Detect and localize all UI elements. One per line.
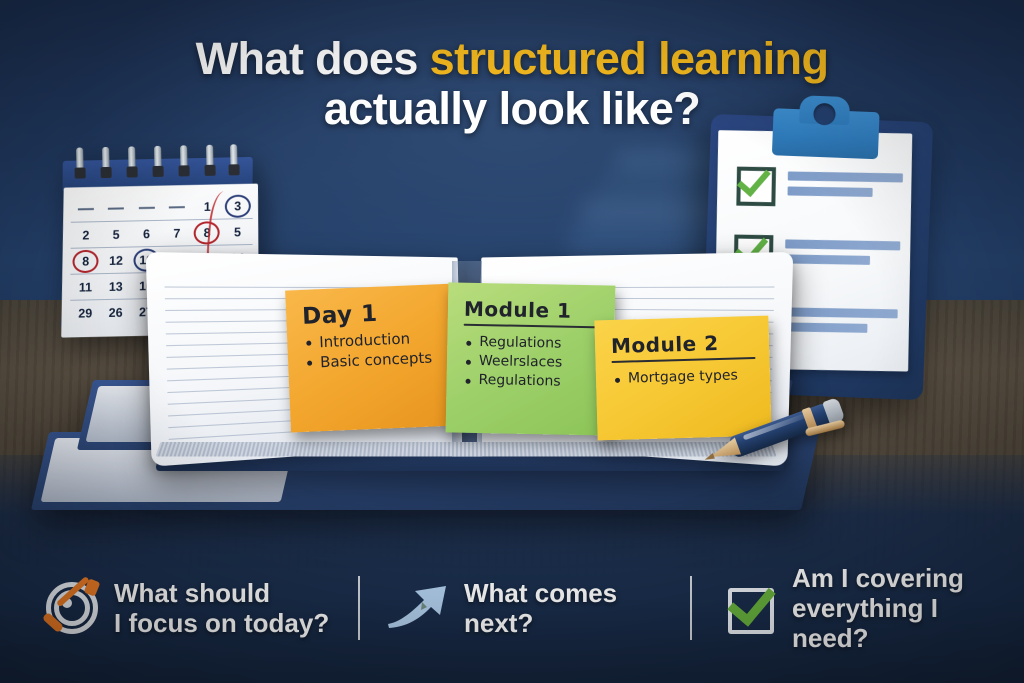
caption-line-1: What comes (464, 578, 617, 608)
poster-canvas: What does structured learning actually l… (0, 0, 1024, 683)
calendar-date-cell: 6 (131, 226, 161, 241)
note-item: Regulations (478, 371, 599, 392)
target-icon (44, 580, 100, 636)
headline-line1-highlight: structured learning (430, 33, 829, 84)
placeholder-line (788, 171, 903, 182)
calendar-ring (180, 145, 188, 175)
calendar-date-cell: 26 (100, 305, 130, 320)
caption-text: What comes next? (464, 578, 617, 638)
caption-line-2: I focus on today? (114, 608, 329, 638)
calendar-date-cell: 11 (70, 280, 100, 295)
note-item: Basic concepts (320, 347, 445, 372)
calendar-empty-cell (162, 207, 192, 208)
note-item: Mortgage types (628, 366, 756, 389)
placeholder-line (782, 322, 867, 332)
placeholder-line (788, 186, 873, 196)
calendar-date-cell: 8 (70, 254, 100, 269)
placeholder-line (783, 307, 898, 318)
caption-text: Am I covering everything I need? (792, 563, 1010, 653)
calendar-date-cell: 12 (101, 253, 131, 268)
note-item-list: Mortgage types (612, 366, 756, 389)
caption-focus-today: What should I focus on today? (0, 578, 358, 638)
clipboard-placeholder-lines (785, 235, 901, 271)
note-item: Weelrslaces (479, 352, 600, 373)
calendar-empty-cell (101, 208, 131, 209)
clipboard-placeholder-lines (787, 167, 903, 203)
caption-what-comes-next: What comes next? (360, 578, 690, 638)
calendar-date-cell: 29 (70, 306, 100, 321)
calendar-empty-cell (71, 209, 101, 210)
checkbox-checked-icon (736, 167, 776, 207)
growth-arrow-icon (386, 582, 450, 633)
note-title: Module 2 (611, 330, 756, 358)
calendar-ring (76, 147, 84, 177)
sticky-note-day-1: Day 1 Introduction Basic concepts (285, 284, 461, 433)
calendar-date-cell: 5 (101, 227, 131, 242)
note-title-underline (611, 357, 755, 363)
open-book-page-edges (155, 442, 776, 457)
calendar-ring (206, 145, 214, 175)
note-item: Regulations (479, 333, 600, 354)
calendar-ring (128, 146, 136, 176)
note-title: Module 1 (464, 297, 601, 324)
headline-line1-plain: What does (196, 33, 430, 84)
clipboard-placeholder-lines (782, 303, 898, 339)
note-title-underline (464, 324, 601, 329)
clipboard-checklist-row (736, 167, 903, 209)
calendar-empty-cell (132, 207, 162, 208)
note-item-list: Introduction Basic concepts (303, 327, 445, 373)
caption-bar: What should I focus on today? What comes… (0, 560, 1024, 655)
placeholder-line (785, 254, 870, 264)
caption-line-1: Am I covering (792, 563, 1010, 593)
calendar-ring (230, 144, 238, 174)
placeholder-line (785, 239, 900, 250)
caption-line-2: next? (464, 608, 617, 638)
pen-nib (703, 453, 714, 462)
sticky-note-module-1: Module 1 Regulations Weelrslaces Regulat… (446, 282, 616, 435)
note-item-list: Regulations Weelrslaces Regulations (462, 333, 600, 393)
calendar-date-cell: 7 (162, 226, 192, 241)
pen-tip-cone (707, 437, 741, 464)
caption-line-2: everything I need? (792, 593, 1010, 653)
calendar-date-cell: 2 (71, 228, 101, 243)
calendar-date-cell: 13 (101, 279, 131, 294)
caption-text: What should I focus on today? (114, 578, 329, 638)
note-title: Day 1 (302, 298, 443, 330)
calendar-ring (102, 147, 110, 177)
checkbox-checked-icon (728, 584, 778, 632)
caption-line-1: What should (114, 578, 329, 608)
calendar-ring (154, 146, 162, 176)
caption-covering-everything: Am I covering everything I need? (692, 563, 1024, 653)
